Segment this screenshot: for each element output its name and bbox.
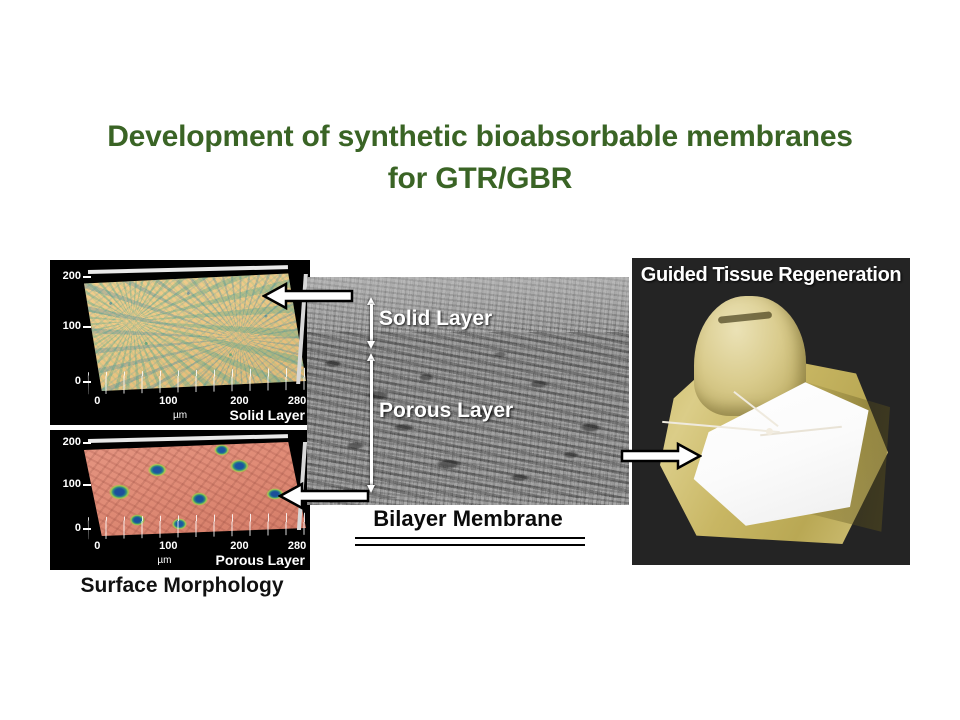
afm-porous-xtick-200: 200 — [230, 540, 248, 552]
afm-solid-xtick-100: 100 — [159, 395, 177, 407]
afm-solid-layer-caption: Solid Layer — [230, 407, 305, 423]
afm-porous-ytick-0: 0 — [75, 522, 81, 534]
sem-porous-layer-label: Porous Layer — [379, 399, 513, 423]
gtr-panel-title: Guided Tissue Regeneration — [632, 264, 910, 287]
afm-solid-ytick-100: 100 — [63, 320, 81, 332]
afm-porous-xtick-100: 100 — [159, 540, 177, 552]
afm-porous-top-edge — [88, 434, 288, 443]
arrow-to-gtr-icon — [620, 441, 702, 471]
afm-solid-top-edge — [88, 265, 288, 274]
afm-porous-xtick-280: 280 — [288, 540, 306, 552]
arrow-to-porous-afm-icon — [278, 481, 370, 511]
afm-porous-plot-area: 200 100 0 0 100 200 280 — [84, 436, 306, 536]
page-title: Development of synthetic bioabsorbable m… — [0, 116, 960, 200]
suture-knot — [766, 428, 773, 435]
title-line-2: for GTR/GBR — [0, 158, 960, 200]
afm-porous-ytick-200: 200 — [63, 436, 81, 448]
afm-solid-ytick-0: 0 — [75, 375, 81, 387]
gtr-dental-model-panel: Guided Tissue Regeneration — [632, 258, 910, 565]
afm-porous-base-grid — [88, 513, 306, 540]
afm-porous-xtick-0: 0 — [94, 540, 100, 552]
arrow-shaft — [370, 360, 373, 486]
sem-cross-section-panel: Solid Layer Porous Layer — [307, 277, 629, 505]
afm-solid-xtick-0: 0 — [94, 395, 100, 407]
afm-porous-axis-unit: µm — [157, 555, 171, 566]
surface-morphology-label: Surface Morphology — [50, 574, 314, 598]
solid-layer-thickness-arrow-icon — [367, 297, 376, 349]
afm-porous-layer-panel: 200 100 0 0 100 200 280 µm Porous Layer — [50, 430, 310, 570]
arrow-shaft — [370, 304, 373, 342]
afm-porous-layer-caption: Porous Layer — [216, 552, 305, 568]
afm-solid-ytick-200: 200 — [63, 270, 81, 282]
afm-solid-xtick-280: 280 — [288, 395, 306, 407]
bilayer-membrane-underline — [355, 537, 585, 546]
afm-solid-axis-unit: µm — [173, 410, 187, 421]
arrow-to-solid-afm-icon — [262, 281, 354, 311]
title-line-1: Development of synthetic bioabsorbable m… — [107, 120, 853, 153]
porous-layer-thickness-arrow-icon — [367, 353, 376, 493]
afm-porous-ytick-100: 100 — [63, 478, 81, 490]
arrow-head-down-icon — [367, 341, 375, 349]
afm-solid-base-grid — [88, 368, 306, 395]
afm-solid-xtick-200: 200 — [230, 395, 248, 407]
sem-solid-layer-label: Solid Layer — [379, 307, 492, 331]
